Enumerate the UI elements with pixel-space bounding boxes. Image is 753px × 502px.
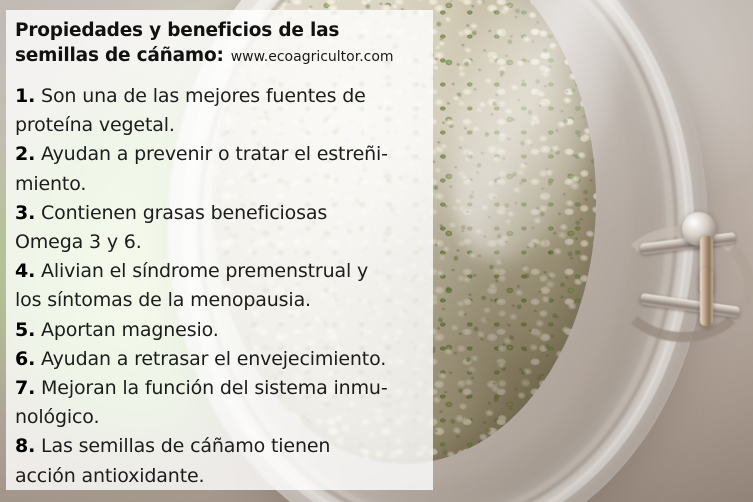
- list-item: 1. Son una de las mejores fuentes de pro…: [15, 82, 427, 140]
- list-item-number: 4.: [15, 260, 35, 282]
- title-line-1: Propiedades y beneficios de las: [15, 20, 339, 41]
- clamp-pin-lower: [700, 268, 713, 326]
- list-item-number: 6.: [15, 348, 35, 370]
- list-item: 8. Las semillas de cáñamo tienen acción …: [15, 432, 427, 490]
- list-item-number: 8.: [15, 435, 35, 457]
- list-item-text: Las semillas de cáñamo tienen acción ant…: [15, 435, 330, 486]
- list-item-text: Son una de las mejores fuentes de proteí…: [15, 85, 366, 136]
- list-item-number: 5.: [15, 319, 35, 341]
- list-item-number: 2.: [15, 143, 35, 165]
- list-item-text: Contienen grasas beneficiosas Omega 3 y …: [15, 202, 327, 253]
- list-item: 2. Ayudan a prevenir o tratar el estreñi…: [15, 140, 427, 198]
- source-url: www.ecoagricultor.com: [224, 49, 394, 65]
- list-item: 6. Ayudan a retrasar el envejecimiento.: [15, 345, 427, 374]
- text-overlay-panel: Propiedades y beneficios de las semillas…: [6, 10, 433, 490]
- list-item-text: Aportan magnesio.: [41, 319, 219, 341]
- title-line-2: semillas de cáñamo:: [15, 45, 224, 66]
- list-item-text: Ayudan a retrasar el envejecimiento.: [41, 348, 386, 370]
- list-item-number: 7.: [15, 377, 35, 399]
- list-item: 4. Alivian el síndrome premenstrual y lo…: [15, 257, 427, 315]
- list-item-number: 1.: [15, 85, 35, 107]
- benefits-list: 1. Son una de las mejores fuentes de pro…: [15, 82, 427, 491]
- list-item-text: Mejoran la función del sistema inmu- nol…: [15, 377, 388, 428]
- list-item: 7. Mejoran la función del sistema inmu- …: [15, 374, 427, 432]
- infographic-canvas: Propiedades y beneficios de las semillas…: [0, 0, 753, 502]
- list-item: 5. Aportan magnesio.: [15, 316, 427, 345]
- list-item-number: 3.: [15, 202, 35, 224]
- list-item-text: Ayudan a prevenir o tratar el estreñi- m…: [15, 143, 388, 194]
- page-title: Propiedades y beneficios de las semillas…: [15, 18, 427, 70]
- list-item: 3. Contienen grasas beneficiosas Omega 3…: [15, 199, 427, 257]
- list-item-text: Alivian el síndrome premenstrual y los s…: [15, 260, 368, 311]
